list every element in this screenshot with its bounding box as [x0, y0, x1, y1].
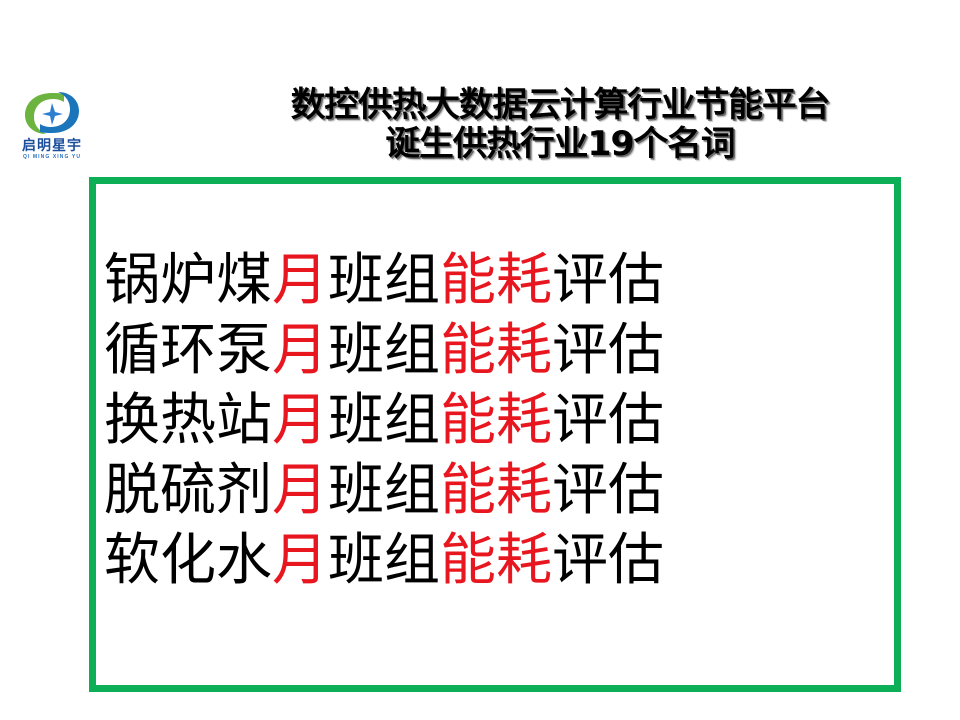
slide-canvas: 启明星宇 QI MING XING YU 数控供热大数据云计算行业节能平台 诞生… — [0, 0, 960, 720]
term-row: 换热站月班组能耗评估 — [104, 386, 764, 456]
term-suffix: 评估 — [552, 388, 664, 453]
term-prefix: 软化水 — [104, 528, 272, 593]
term-row: 锅炉煤月班组能耗评估 — [104, 246, 764, 316]
title-line-primary: 数控供热大数据云计算行业节能平台 — [172, 86, 947, 125]
term-middle: 班组 — [328, 528, 440, 593]
term-metric: 能耗 — [440, 388, 552, 453]
term-row: 脱硫剂月班组能耗评估 — [104, 456, 764, 526]
title-line-secondary: 诞生供热行业19个名词 — [172, 125, 947, 164]
term-unit: 月 — [272, 458, 328, 523]
term-suffix: 评估 — [552, 528, 664, 593]
term-middle: 班组 — [328, 388, 440, 453]
term-middle: 班组 — [328, 318, 440, 383]
term-unit: 月 — [272, 248, 328, 313]
slide-title: 数控供热大数据云计算行业节能平台 诞生供热行业19个名词 — [180, 86, 940, 164]
company-logo: 启明星宇 QI MING XING YU — [12, 90, 92, 172]
term-list: 锅炉煤月班组能耗评估 循环泵月班组能耗评估 换热站月班组能耗评估 脱硫剂月班组能… — [104, 246, 764, 596]
term-suffix: 评估 — [552, 248, 664, 313]
term-prefix: 换热站 — [104, 388, 272, 453]
green-blue-swirl-star-logo — [19, 90, 85, 136]
term-middle: 班组 — [328, 458, 440, 523]
term-row: 软化水月班组能耗评估 — [104, 526, 764, 596]
term-metric: 能耗 — [440, 458, 552, 523]
term-metric: 能耗 — [440, 248, 552, 313]
term-metric: 能耗 — [440, 318, 552, 383]
term-suffix: 评估 — [552, 318, 664, 383]
term-unit: 月 — [272, 528, 328, 593]
term-prefix: 循环泵 — [104, 318, 272, 383]
logo-name-cn: 启明星宇 — [12, 138, 92, 154]
term-metric: 能耗 — [440, 528, 552, 593]
term-prefix: 脱硫剂 — [104, 458, 272, 523]
term-suffix: 评估 — [552, 458, 664, 523]
term-unit: 月 — [272, 388, 328, 453]
term-unit: 月 — [272, 318, 328, 383]
term-middle: 班组 — [328, 248, 440, 313]
term-row: 循环泵月班组能耗评估 — [104, 316, 764, 386]
content-frame: 锅炉煤月班组能耗评估 循环泵月班组能耗评估 换热站月班组能耗评估 脱硫剂月班组能… — [89, 177, 901, 692]
term-prefix: 锅炉煤 — [104, 248, 272, 313]
logo-name-pinyin: QI MING XING YU — [12, 154, 92, 161]
